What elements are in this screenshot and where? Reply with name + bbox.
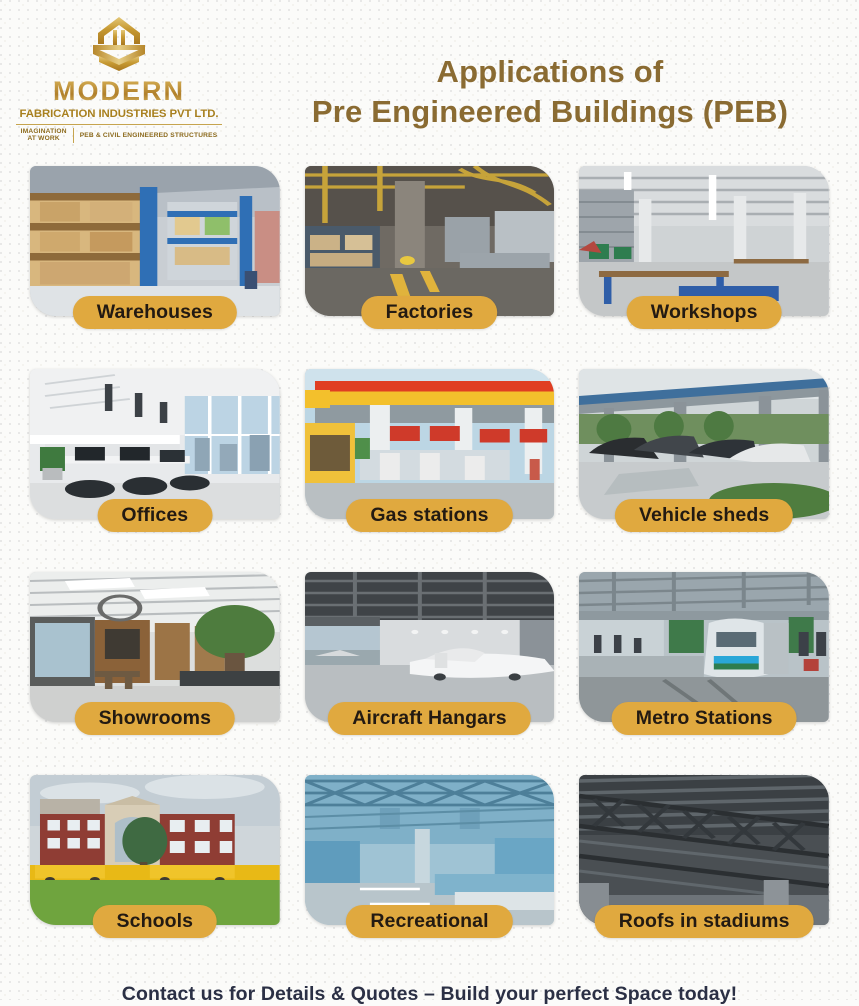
application-card-label: Factories [362,296,498,329]
application-card[interactable]: Factories [297,162,563,347]
brand-tagline-left-line2: AT WORK [21,135,67,143]
application-card-label: Recreational [346,905,512,938]
applications-grid: Warehouses Factories [0,162,859,956]
title-line-2: Pre Engineered Buildings (PEB) [250,92,850,132]
building-chevron-logo-icon [80,14,158,76]
application-card-label-text: Aircraft Hangars [352,707,506,729]
stadium-roof-steel-trusses-photo [579,775,829,925]
application-card-label: Gas stations [346,499,512,532]
application-card[interactable]: Workshops [571,162,837,347]
brand-tagline-divider [73,128,74,143]
showroom-retail-interior-photo [30,572,280,722]
recreational-steel-structure-photo [305,775,555,925]
application-card-label: Offices [97,499,212,532]
poster-page: MODERN FABRICATION INDUSTRIES PVT LTD. I… [0,0,859,1000]
footer: Contact us for Details & Quotes – Build … [0,983,859,1006]
poster-header: MODERN FABRICATION INDUSTRIES PVT LTD. I… [0,0,859,160]
application-card-label-text: Metro Stations [636,707,773,729]
brand-subtitle: FABRICATION INDUSTRIES PVT LTD. [14,108,224,121]
application-card-label: Vehicle sheds [615,499,793,532]
gas-station-forecourt-canopy-photo [305,369,555,519]
factory-production-floor-photo [305,166,555,316]
application-card-label-text: Workshops [651,301,758,323]
application-card[interactable]: Offices [22,365,288,550]
application-card[interactable]: Showrooms [22,568,288,753]
application-card[interactable]: Warehouses [22,162,288,347]
metro-station-platform-train-photo [579,572,829,722]
title-line-1: Applications of [250,52,850,92]
brand-logo-block[interactable]: MODERN FABRICATION INDUSTRIES PVT LTD. I… [14,14,224,143]
brand-tagline-left-line1: IMAGINATION [21,128,67,136]
application-card[interactable]: Metro Stations [571,568,837,753]
brand-name: MODERN [14,78,224,105]
application-card-label-text: Warehouses [97,301,213,323]
school-building-buses-photo [30,775,280,925]
application-card-label: Roofs in stadiums [595,905,814,938]
application-card-label: Warehouses [73,296,237,329]
application-card-label-text: Roofs in stadiums [619,910,790,932]
application-card-label: Schools [93,905,218,938]
application-card-label-text: Showrooms [99,707,212,729]
brand-tagline-right: PEB & CIVIL ENGINEERED STRUCTURES [80,132,218,139]
application-card[interactable]: Schools [22,771,288,956]
warehouse-racking-interior-photo [30,166,280,316]
application-card-label-text: Schools [117,910,194,932]
brand-divider [16,124,222,125]
application-card[interactable]: Roofs in stadiums [571,771,837,956]
aircraft-hangar-jet-photo [305,572,555,722]
application-card-label: Workshops [627,296,782,329]
application-card-label: Aircraft Hangars [328,702,530,735]
application-card[interactable]: Gas stations [297,365,563,550]
application-card-label: Showrooms [75,702,236,735]
footer-cta-text: Contact us for Details & Quotes – Build … [0,983,859,1006]
application-card-label-text: Gas stations [370,504,488,526]
brand-tagline-left: IMAGINATION AT WORK [21,128,67,143]
application-card[interactable]: Vehicle sheds [571,365,837,550]
application-card-label: Metro Stations [612,702,797,735]
application-card-label-text: Factories [386,301,474,323]
page-title: Applications of Pre Engineered Buildings… [250,52,850,133]
brand-tagline: IMAGINATION AT WORK PEB & CIVIL ENGINEER… [14,128,224,143]
open-plan-office-interior-photo [30,369,280,519]
application-card-label-text: Recreational [370,910,488,932]
workshop-benches-interior-photo [579,166,829,316]
application-card[interactable]: Recreational [297,771,563,956]
application-card-label-text: Vehicle sheds [639,504,769,526]
vehicle-shed-carport-parking-photo [579,369,829,519]
application-card[interactable]: Aircraft Hangars [297,568,563,753]
application-card-label-text: Offices [121,504,188,526]
